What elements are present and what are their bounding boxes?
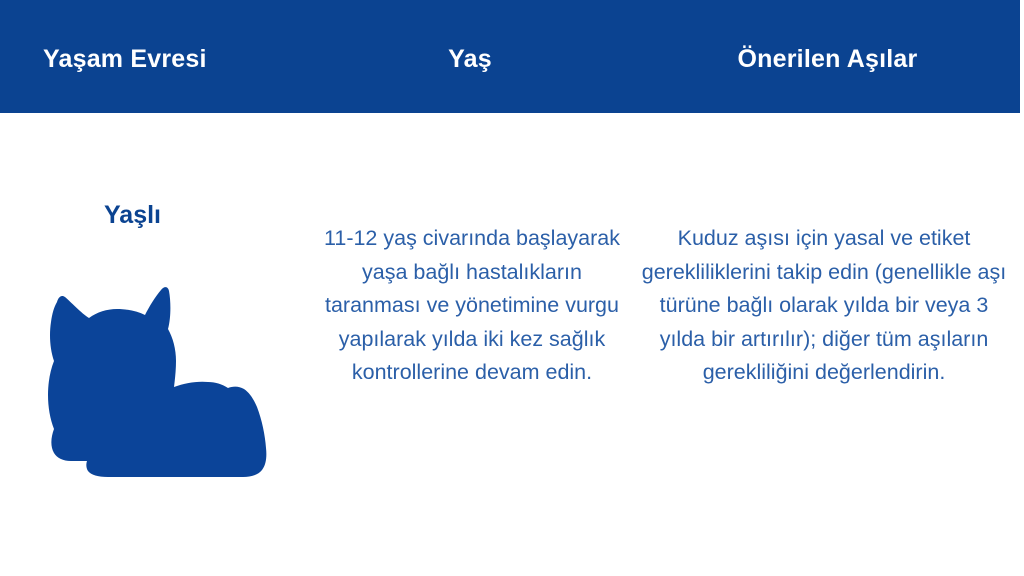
cell-life-stage: Yaşlı bbox=[0, 200, 310, 230]
slide-canvas: Yaşam Evresi Yaş Önerilen Aşılar Yaşlı 1… bbox=[0, 0, 1024, 576]
cell-age-text: 11-12 yaş civarında başlayarak yaşa bağl… bbox=[322, 222, 622, 390]
life-stage-label: Yaşlı bbox=[0, 200, 310, 230]
column-header-life-stage: Yaşam Evresi bbox=[43, 44, 207, 74]
table-header-bar: Yaşam Evresi Yaş Önerilen Aşılar bbox=[0, 0, 1020, 113]
cell-recommended-vaccines-text: Kuduz aşısı için yasal ve etiket gerekli… bbox=[640, 222, 1008, 390]
column-header-age: Yaş bbox=[345, 44, 595, 74]
column-header-recommended-vaccines: Önerilen Aşılar bbox=[700, 44, 955, 74]
cat-silhouette-icon bbox=[45, 285, 280, 490]
